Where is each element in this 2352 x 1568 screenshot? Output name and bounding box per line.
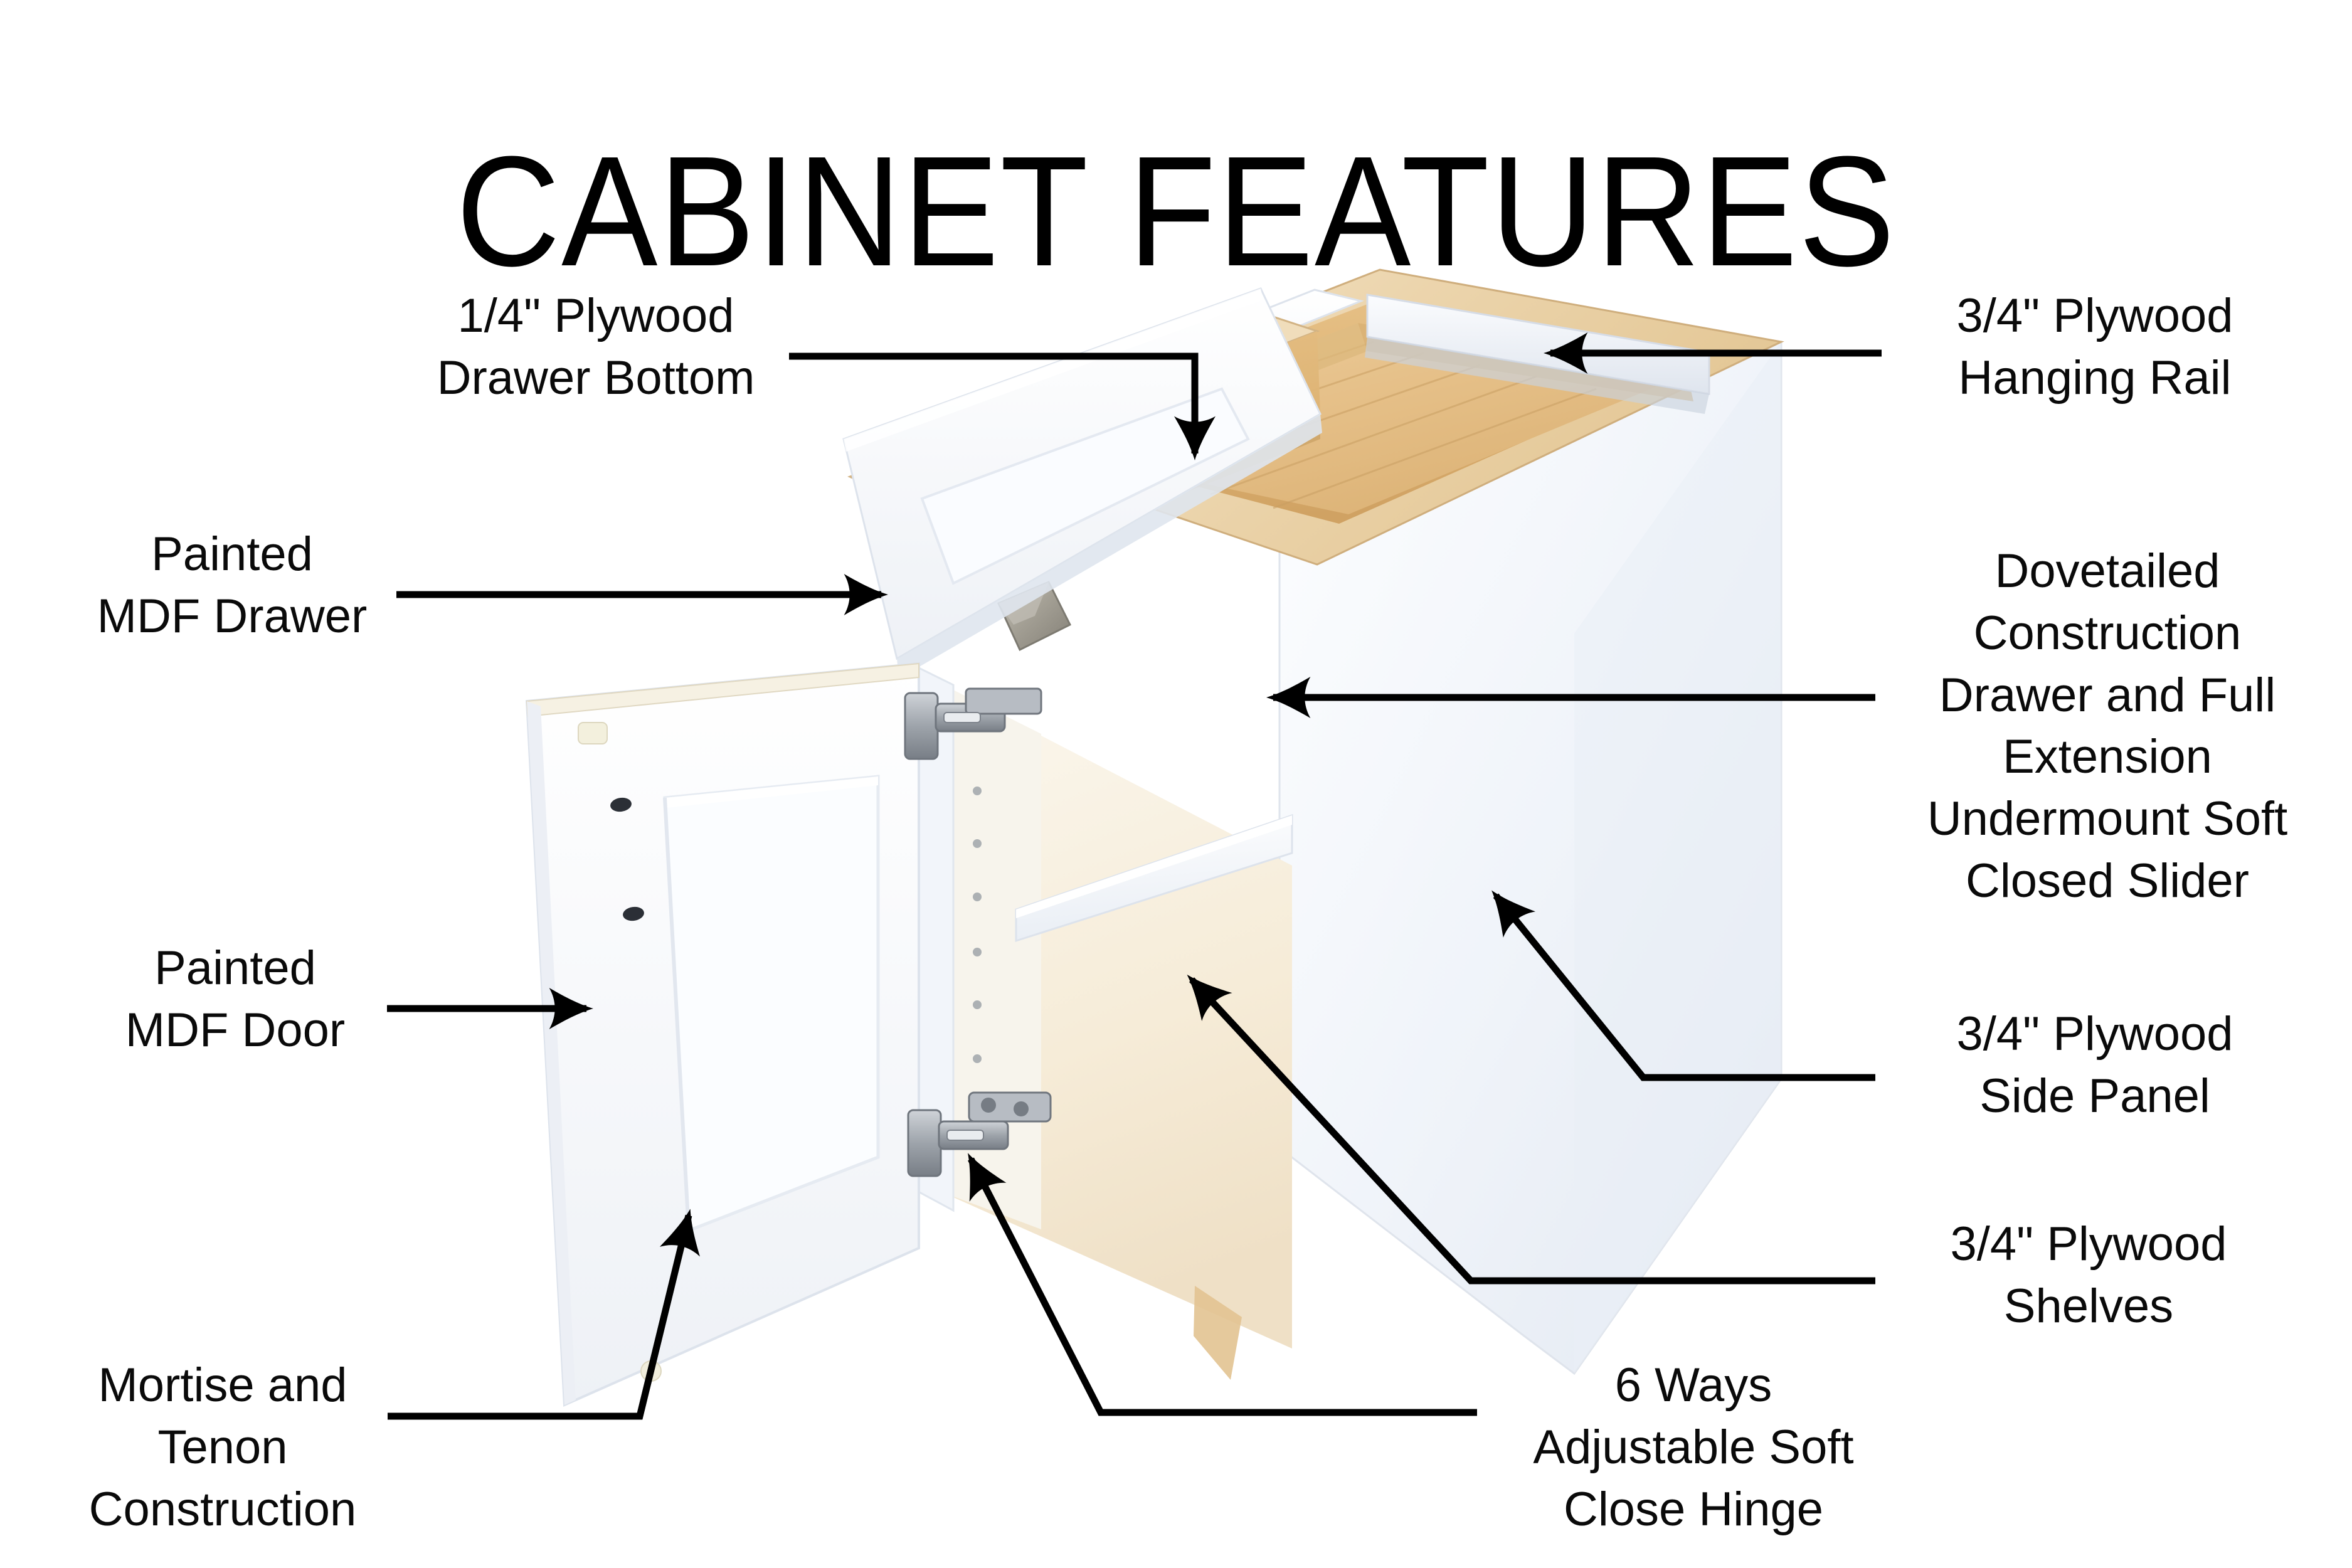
leader-mortise-tenon [388,1216,689,1416]
leader-shelves [1192,980,1875,1281]
callout-shelves: 3/4" Plywood Shelves [1888,1214,2289,1338]
leader-side-panel [1496,896,1875,1078]
callout-painted-mdf-door: Painted MDF Door [69,938,401,1062]
leader-drawer-bottom [789,356,1195,453]
leader-soft-close-hinge [971,1159,1477,1412]
callout-side-panel: 3/4" Plywood Side Panel [1894,1004,2296,1128]
poster-canvas: CABINET FEATURES 1/4" Plywood Drawer Bot… [0,0,2352,1568]
callout-drawer-bottom: 1/4" Plywood Drawer Bottom [414,285,778,410]
page-title: CABINET FEATURES [94,127,2258,296]
callout-dovetailed-construction: Dovetailed Construction Drawer and Full … [1888,541,2327,913]
callout-mortise-tenon: Mortise and Tenon Construction [53,1355,392,1540]
callout-painted-mdf-drawer: Painted MDF Drawer [63,524,401,648]
callout-soft-close-hinge: 6 Ways Adjustable Soft Close Hinge [1493,1355,1894,1540]
callout-hanging-rail: 3/4" Plywood Hanging Rail [1894,285,2296,410]
